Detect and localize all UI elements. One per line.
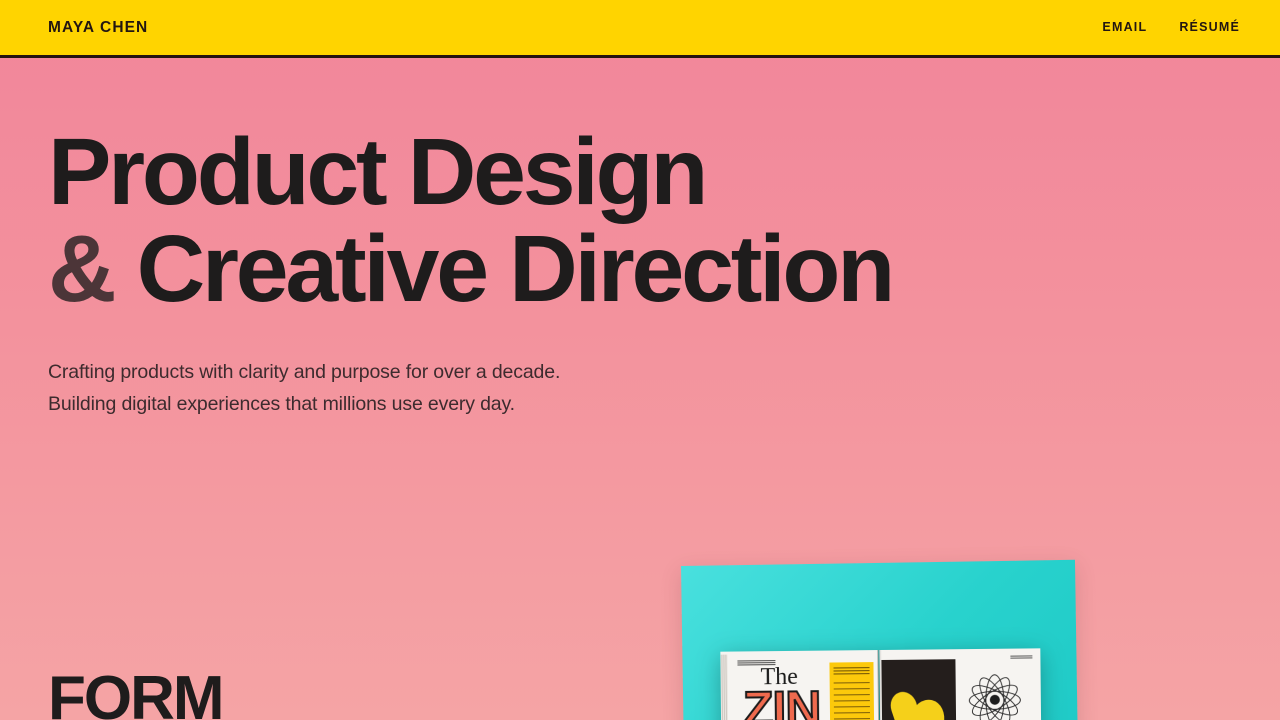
page-root: MAYA CHEN EMAIL RÉSUMÉ Product Design & … [0,0,1280,720]
sidebar-body-lines [834,682,871,720]
magazine-right-page [879,648,1041,720]
magazine-yellow-sidebar [829,662,874,720]
magazine-dark-art-panel [881,659,956,720]
site-header: MAYA CHEN EMAIL RÉSUMÉ [0,0,1280,58]
primary-nav: EMAIL RÉSUMÉ [1102,21,1240,34]
nav-link-email[interactable]: EMAIL [1102,21,1147,34]
headline-line-2-text: Creative Direction [113,216,892,322]
headline-line-1: Product Design [48,58,892,219]
nav-link-resume[interactable]: RÉSUMÉ [1179,21,1240,34]
work-showcase[interactable]: The ZIN [681,566,1075,720]
hero-subtitle: Crafting products with clarity and purpo… [48,356,892,420]
sidebar-heading-lines [833,667,869,676]
page-edge-texture [720,655,728,720]
hero-subtitle-line-1: Crafting products with clarity and purpo… [48,356,892,388]
headline-ampersand: & [48,216,113,322]
hero-section: Product Design & Creative Direction Craf… [48,58,892,421]
hero-subtitle-line-2: Building digital experiences that millio… [48,388,892,420]
magazine-title-word: ZIN [743,684,821,720]
atom-diagram-icon [968,673,1023,720]
site-logo[interactable]: MAYA CHEN [48,20,148,36]
headline-line-2: & Creative Direction [48,219,892,316]
section-heading-form: FORM [48,668,223,720]
magazine-page-folio [1010,655,1032,659]
magazine-left-page: The ZIN [720,650,879,720]
magazine-spread-image: The ZIN [720,648,1041,720]
page-title: Product Design & Creative Direction [48,58,892,316]
